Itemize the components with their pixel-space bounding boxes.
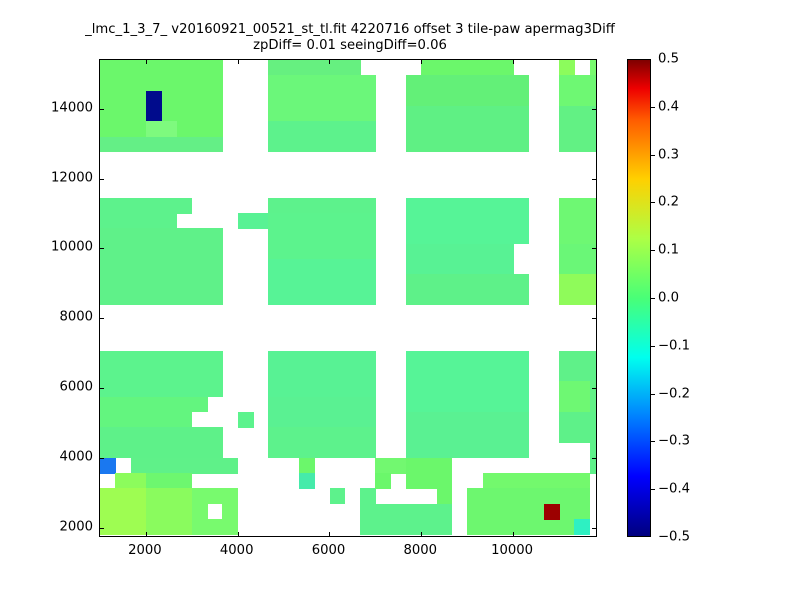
heatmap-cell [192,519,239,535]
heatmap-cell [100,488,147,535]
heatmap-cell [330,488,346,504]
heatmap-cell [146,488,193,535]
heatmap-cell [115,473,146,489]
heatmap-cell [559,381,590,412]
heatmap-cell [314,60,361,76]
heatmap-cell [161,91,177,122]
heatmap-cell [146,473,193,489]
heatmap-cell [406,244,514,275]
heatmap-cell [100,427,223,458]
heatmap-cell [192,228,223,275]
heatmap-cell [299,458,315,474]
x-axis-tick [238,532,239,536]
x-tick-label: 4000 [220,543,254,558]
colorbar-tick-label: 0.4 [658,99,679,114]
heatmap-cell [100,198,177,229]
colorbar-gradient [628,60,650,536]
y-axis-tick [100,179,104,180]
y-tick-label: 14000 [51,100,93,115]
y-axis-tick [592,318,596,319]
y-axis-tick [100,458,104,459]
y-axis-tick [592,458,596,459]
heatmap-cell [467,488,590,504]
x-axis-tick [146,60,147,64]
colorbar-tick [651,298,655,299]
colorbar-tick-label: 0.2 [658,195,679,210]
heatmap-cell [406,473,437,489]
heatmap-cell [406,366,529,413]
heatmap-cell [222,504,238,520]
title-line-2: zpDiff= 0.01 seeingDiff=0.06 [0,38,700,54]
heatmap-cell [268,259,376,306]
heatmap-cell [559,75,597,106]
heatmap-cell [559,274,597,305]
heatmap-cell [238,412,254,428]
heatmap-cell [268,60,315,76]
heatmap-cell [544,504,560,520]
x-axis-tick [146,532,147,536]
x-axis-tick [421,60,422,64]
x-tick-label: 8000 [404,543,438,558]
x-axis-tick [238,60,239,64]
heatmap-cell [268,198,376,214]
y-axis-tick [592,179,596,180]
heatmap-cell [268,427,376,458]
colorbar-tick-label: 0.0 [658,291,679,306]
heatmap-cell [177,198,193,214]
x-tick-label: 6000 [312,543,346,558]
heatmap-cell [406,458,437,474]
heatmap-cell [238,213,269,229]
heatmap-cell [437,458,453,505]
heatmap-cell [375,458,406,474]
y-tick-label: 2000 [59,519,93,534]
colorbar-tick [651,250,655,251]
colorbar-tick-label: 0.5 [658,52,679,67]
heatmap-cell [406,106,529,153]
y-axis-tick [100,109,104,110]
colorbar-tick [651,202,655,203]
colorbar-tick [651,107,655,108]
colorbar-tick-label: −0.5 [658,530,690,545]
x-axis-tick [513,532,514,536]
heatmap-cell [406,274,529,305]
x-axis-tick [421,532,422,536]
x-axis-tick [513,60,514,64]
heatmap-cell [100,137,223,153]
heatmap-cell [268,351,376,398]
heatmap-cell [452,60,514,76]
heatmap-cell [483,473,591,489]
colorbar-tick [651,441,655,442]
heatmap-cell [574,519,590,535]
heatmap-cell [100,121,147,137]
heatmap-cell [100,228,192,275]
heatmap-cell [192,488,239,504]
heatmap-cell [192,351,223,398]
heatmap-cell [406,75,529,106]
heatmap-cell [100,397,192,428]
colorbar-tick [651,489,655,490]
y-axis-tick [592,109,596,110]
colorbar-tick [651,394,655,395]
heatmap-cell [268,121,376,152]
y-axis-tick [592,388,596,389]
heatmap-cell [559,198,597,245]
heatmap-cell [131,458,193,474]
x-axis-tick [329,532,330,536]
y-axis-tick [592,248,596,249]
heatmap-cell [100,351,192,398]
heatmap-cell [192,504,208,520]
heatmap-cell [146,91,162,122]
heatmap-cell [406,351,422,367]
heatmap-cell [299,473,315,489]
heatmap-cell [177,121,224,137]
figure-title: _lmc_1_3_7_ v20160921_00521_st_tl.fit 42… [0,22,700,54]
title-line-1: _lmc_1_3_7_ v20160921_00521_st_tl.fit 42… [0,22,700,38]
y-tick-label: 10000 [51,240,93,255]
heatmap-cell [192,397,208,413]
heatmap-cell [406,198,529,245]
heatmap-cell [268,75,376,122]
matplotlib-figure: _lmc_1_3_7_ v20160921_00521_st_tl.fit 42… [0,0,800,600]
y-axis-tick [100,388,104,389]
heatmap-cell [360,504,452,535]
y-axis-tick [100,528,104,529]
colorbar-tick-label: 0.1 [658,243,679,258]
colorbar-tick-label: −0.4 [658,482,690,497]
heatmap-cell [360,488,376,504]
colorbar[interactable] [627,59,651,537]
heatmap-cell [406,412,529,459]
heatmap-cell [100,91,147,122]
heatmap-cell [268,397,376,428]
heatmap-cell [590,381,597,412]
x-tick-label: 10000 [491,543,533,558]
colorbar-tick [651,346,655,347]
y-tick-label: 4000 [59,449,93,464]
y-tick-label: 8000 [59,310,93,325]
y-axis-tick [100,318,104,319]
y-tick-label: 12000 [51,170,93,185]
heatmap-cell [100,458,116,474]
colorbar-tick-label: −0.2 [658,386,690,401]
heatmap-cell [467,504,498,535]
heatmap-cell [100,60,223,91]
heatmap-cell [421,351,529,367]
heatmap-cell [192,458,239,474]
heatmap-cell [590,60,597,76]
heatmap-cell [177,91,224,122]
heatmap-cell-layer [100,60,596,536]
heatmap-cell [375,473,391,489]
heatmap-cell [146,121,177,137]
colorbar-tick-label: −0.3 [658,434,690,449]
heatmap-axes[interactable] [99,59,597,537]
heatmap-cell [100,274,223,305]
y-axis-tick [100,248,104,249]
heatmap-cell [421,60,452,76]
x-tick-label: 2000 [128,543,162,558]
heatmap-cell [559,412,597,443]
heatmap-cell [559,60,575,76]
colorbar-tick-label: 0.3 [658,147,679,162]
heatmap-cell [268,213,376,260]
x-axis-tick [329,60,330,64]
heatmap-cell [559,106,597,153]
colorbar-tick-label: −0.1 [658,338,690,353]
y-axis-tick [592,528,596,529]
heatmap-cell [559,351,597,382]
y-tick-label: 6000 [59,379,93,394]
colorbar-tick [651,155,655,156]
